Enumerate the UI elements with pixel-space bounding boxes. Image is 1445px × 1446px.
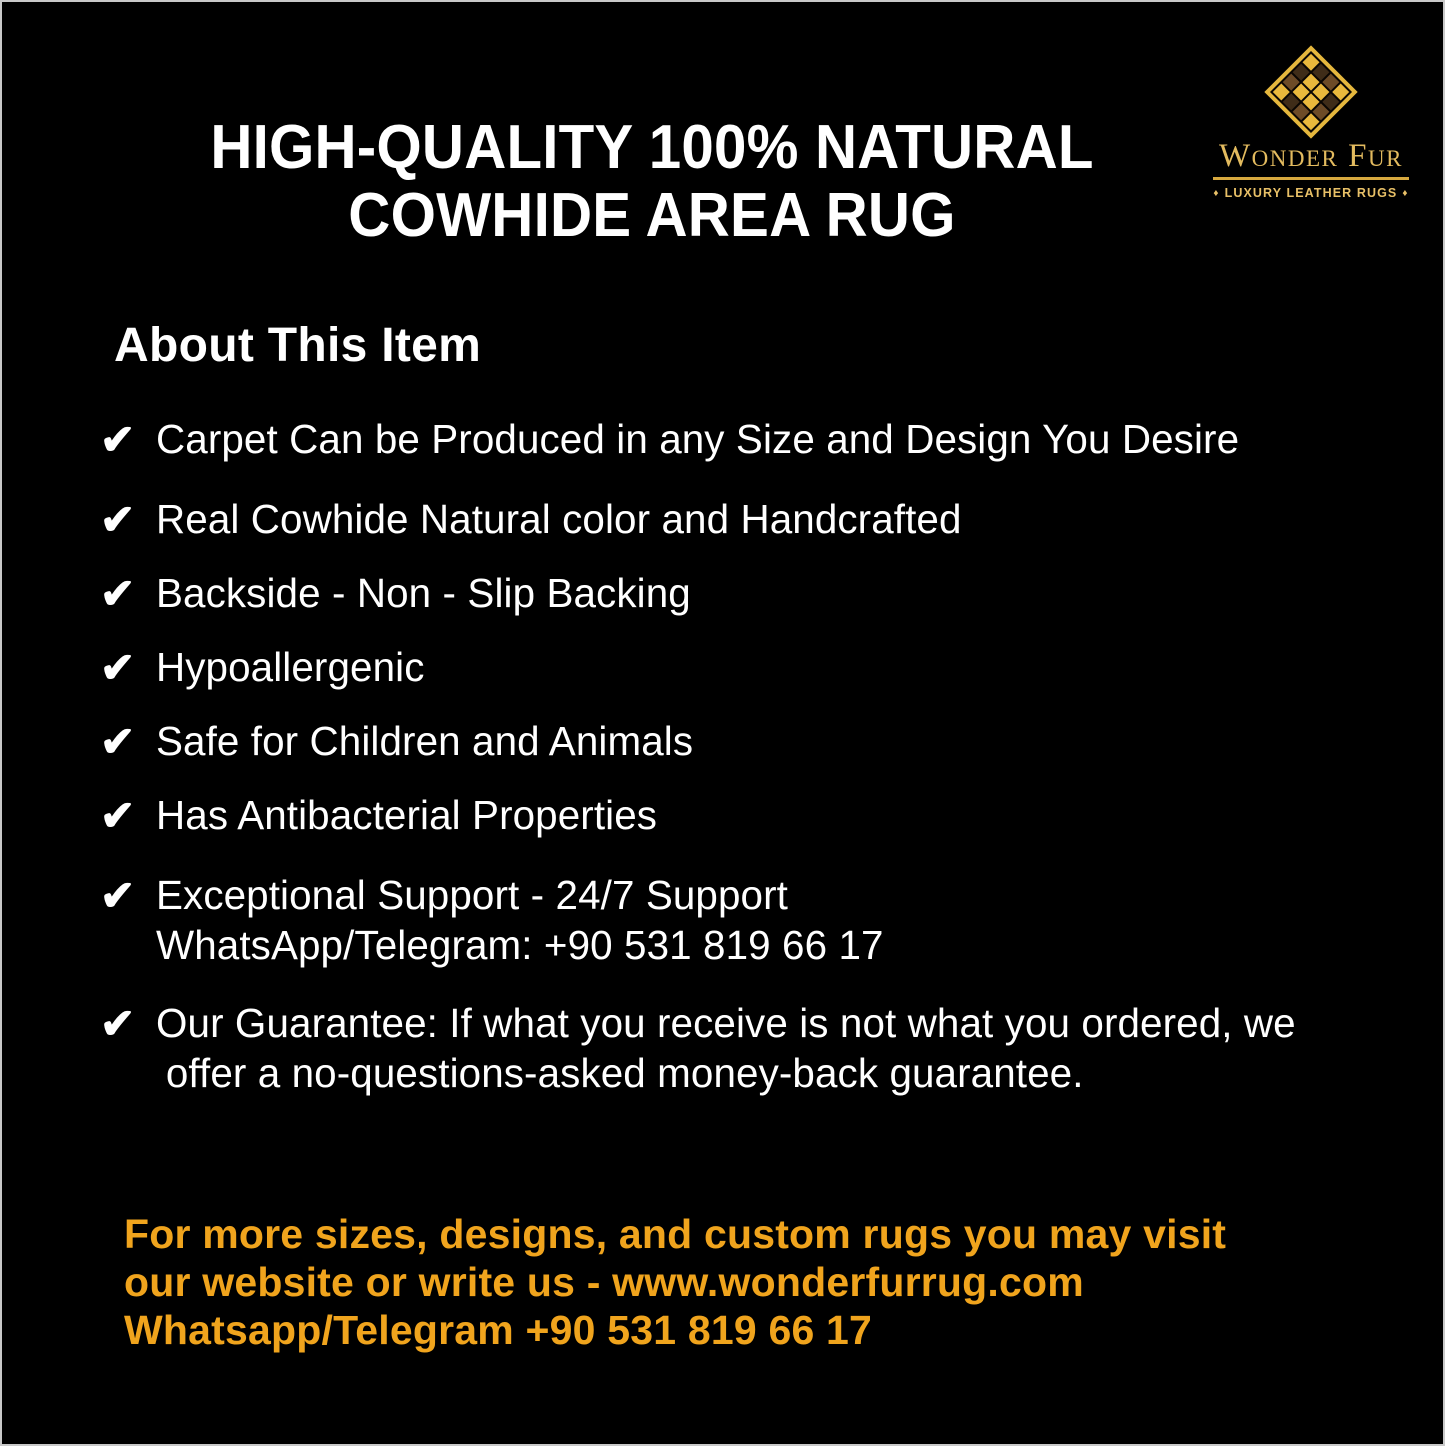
logo-divider: [1213, 177, 1409, 180]
check-icon: ✔: [94, 790, 156, 842]
title-line-2: COWHIDE AREA RUG: [144, 182, 1159, 250]
list-item: ✔ Safe for Children and Animals: [94, 716, 1384, 768]
logo-tagline: ♦LUXURY LEATHER RUGS♦: [1207, 186, 1415, 200]
list-item-label: Safe for Children and Animals: [156, 716, 693, 766]
feature-list: ✔ Carpet Can be Produced in any Size and…: [94, 414, 1384, 1126]
logo-diamond-icon: [1207, 46, 1415, 138]
list-item-label: Backside - Non - Slip Backing: [156, 568, 691, 618]
list-item-label: Our Guarantee: If what you receive is no…: [156, 998, 1296, 1098]
list-item-support: ✔ Exceptional Support - 24/7 Support Wha…: [94, 870, 1384, 970]
diamond-ornament-right: ♦: [1397, 188, 1413, 199]
check-icon: ✔: [94, 870, 156, 922]
list-item-label: Exceptional Support - 24/7 Support Whats…: [156, 870, 884, 970]
support-contact: WhatsApp/Telegram: +90 531 819 66 17: [156, 920, 884, 970]
promo-line-1: For more sizes, designs, and custom rugs…: [124, 1210, 1226, 1258]
list-item: ✔ Has Antibacterial Properties: [94, 790, 1384, 842]
support-line-1: Exceptional Support - 24/7 Support: [156, 870, 884, 920]
logo-wordmark: Wonder Fur: [1207, 138, 1415, 174]
about-heading: About This Item: [114, 318, 481, 373]
header: HIGH-QUALITY 100% NATURAL COWHIDE AREA R…: [2, 2, 1443, 272]
check-icon: ✔: [94, 568, 156, 620]
infographic-canvas: HIGH-QUALITY 100% NATURAL COWHIDE AREA R…: [0, 0, 1445, 1446]
check-icon: ✔: [94, 494, 156, 546]
list-item: ✔ Carpet Can be Produced in any Size and…: [94, 414, 1384, 466]
diamond-ornament-left: ♦: [1208, 188, 1224, 199]
list-item: ✔ Hypoallergenic: [94, 642, 1384, 694]
promo-line-2: our website or write us - www.wonderfurr…: [124, 1258, 1226, 1306]
list-item-guarantee: ✔ Our Guarantee: If what you receive is …: [94, 998, 1384, 1098]
check-icon: ✔: [94, 642, 156, 694]
promo-line-3: Whatsapp/Telegram +90 531 819 66 17: [124, 1306, 1226, 1354]
check-icon: ✔: [94, 998, 156, 1050]
check-icon: ✔: [94, 716, 156, 768]
list-item: ✔ Real Cowhide Natural color and Handcra…: [94, 494, 1384, 546]
list-item-label: Carpet Can be Produced in any Size and D…: [156, 414, 1239, 464]
check-icon: ✔: [94, 414, 156, 466]
page-title: HIGH-QUALITY 100% NATURAL COWHIDE AREA R…: [112, 114, 1192, 250]
list-item-label: Hypoallergenic: [156, 642, 425, 692]
promo-footer: For more sizes, designs, and custom rugs…: [124, 1210, 1226, 1354]
guarantee-line-2: offer a no-questions-asked money-back gu…: [156, 1048, 1296, 1098]
title-line-1: HIGH-QUALITY 100% NATURAL: [144, 114, 1159, 182]
brand-logo: Wonder Fur ♦LUXURY LEATHER RUGS♦: [1207, 46, 1415, 200]
logo-tagline-text: LUXURY LEATHER RUGS: [1225, 186, 1398, 200]
guarantee-line-1: Our Guarantee: If what you receive is no…: [156, 998, 1296, 1048]
list-item: ✔ Backside - Non - Slip Backing: [94, 568, 1384, 620]
list-item-label: Has Antibacterial Properties: [156, 790, 657, 840]
list-item-label: Real Cowhide Natural color and Handcraft…: [156, 494, 962, 544]
